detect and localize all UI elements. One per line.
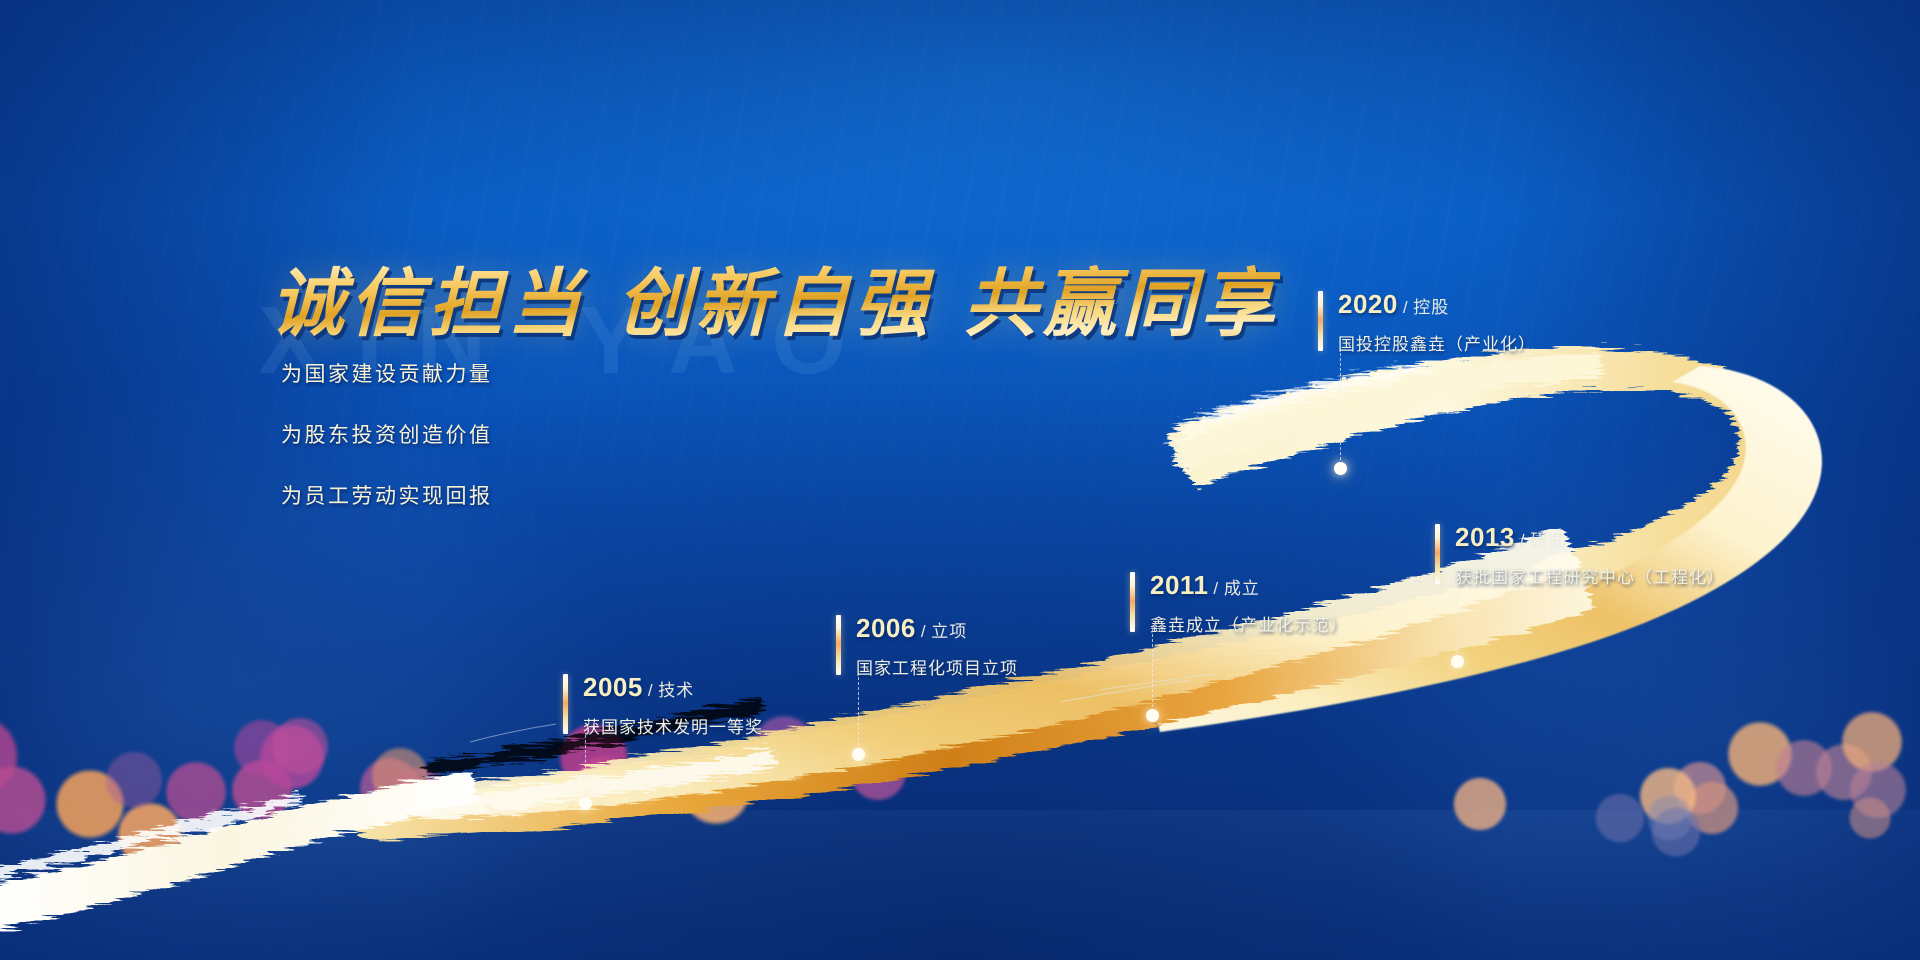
timeline-marker-text: 2005/ 技术获国家技术发明一等奖 bbox=[583, 672, 763, 738]
timeline-description: 鑫垚成立（产业化示范） bbox=[1150, 611, 1348, 636]
page-title: 诚信担当 创新自强 共赢同享 bbox=[270, 244, 1280, 351]
timeline-node-dot[interactable] bbox=[1146, 709, 1159, 722]
timeline-marker-heading: 2020/ 控股 bbox=[1338, 289, 1536, 320]
timeline-accent-bar bbox=[1318, 291, 1323, 351]
timeline-year: 2006 bbox=[856, 613, 916, 643]
bokeh-circle bbox=[1646, 794, 1694, 842]
timeline-leader-line bbox=[1152, 634, 1153, 707]
timeline-description: 获国家技术发明一等奖 bbox=[583, 713, 763, 738]
bokeh-circle bbox=[370, 746, 430, 806]
slogan-line: 为国家建设贡献力量 bbox=[281, 358, 493, 388]
timeline-marker-heading: 2013/ 研究 bbox=[1455, 522, 1725, 553]
timeline-leader-line bbox=[585, 735, 586, 802]
timeline-category: 立项 bbox=[926, 622, 968, 641]
timeline-marker-text: 2006/ 立项国家工程化项目立项 bbox=[856, 613, 1018, 679]
slogan-list: 为国家建设贡献力量 为股东投资创造价值 为员工劳动实现回报 bbox=[281, 358, 493, 541]
timeline-description: 获批国家工程研究中心（工程化） bbox=[1455, 563, 1725, 588]
timeline-marker-text: 2013/ 研究获批国家工程研究中心（工程化） bbox=[1455, 522, 1725, 588]
bokeh-circle bbox=[104, 750, 164, 810]
timeline-marker[interactable]: 2006/ 立项国家工程化项目立项 bbox=[836, 613, 1018, 679]
timeline-category: 技术 bbox=[653, 681, 695, 700]
timeline-description: 国家工程化项目立项 bbox=[856, 654, 1018, 679]
timeline-marker-heading: 2011/ 成立 bbox=[1150, 570, 1348, 601]
bokeh-circle bbox=[1848, 796, 1892, 840]
timeline-year: 2020 bbox=[1338, 289, 1398, 319]
timeline-category: 研究 bbox=[1525, 531, 1567, 550]
timeline-node-dot[interactable] bbox=[852, 748, 865, 761]
timeline-accent-bar bbox=[1130, 572, 1135, 632]
timeline-marker-text: 2011/ 成立鑫垚成立（产业化示范） bbox=[1150, 570, 1348, 636]
timeline-year: 2005 bbox=[583, 672, 643, 702]
timeline-node-dot[interactable] bbox=[1334, 462, 1347, 475]
timeline-accent-bar bbox=[1435, 524, 1440, 584]
bokeh-circle bbox=[1594, 792, 1646, 844]
timeline-category: 成立 bbox=[1218, 579, 1260, 598]
timeline-marker[interactable]: 2005/ 技术获国家技术发明一等奖 bbox=[563, 672, 763, 738]
timeline-year: 2013 bbox=[1455, 522, 1515, 552]
timeline-leader-line bbox=[1457, 586, 1458, 659]
timeline-leader-line bbox=[858, 677, 859, 755]
timeline-marker[interactable]: 2013/ 研究获批国家工程研究中心（工程化） bbox=[1435, 522, 1725, 588]
poster-canvas: XIN YAO 诚信担当 创新自强 共赢同享 为国家建设贡献力量 为股东投资创造… bbox=[0, 0, 1920, 960]
timeline-marker[interactable]: 2020/ 控股国投控股鑫垚（产业化） bbox=[1318, 289, 1536, 355]
slogan-line: 为员工劳动实现回报 bbox=[281, 480, 493, 510]
timeline-marker-text: 2020/ 控股国投控股鑫垚（产业化） bbox=[1338, 289, 1536, 355]
timeline-accent-bar bbox=[563, 674, 568, 734]
bokeh-circle bbox=[1452, 776, 1508, 832]
timeline-description: 国投控股鑫垚（产业化） bbox=[1338, 330, 1536, 355]
timeline-marker-heading: 2006/ 立项 bbox=[856, 613, 1018, 644]
timeline-node-dot[interactable] bbox=[1451, 655, 1464, 668]
slogan-line: 为股东投资创造价值 bbox=[281, 419, 493, 449]
bokeh-circle bbox=[164, 760, 228, 824]
bokeh-circle bbox=[270, 716, 330, 776]
timeline-marker[interactable]: 2011/ 成立鑫垚成立（产业化示范） bbox=[1130, 570, 1348, 636]
bokeh-circle bbox=[680, 754, 752, 826]
timeline-marker-heading: 2005/ 技术 bbox=[583, 672, 763, 703]
timeline-year: 2011 bbox=[1150, 570, 1208, 600]
timeline-accent-bar bbox=[836, 615, 841, 675]
timeline-leader-line bbox=[1340, 353, 1341, 465]
timeline-node-dot[interactable] bbox=[579, 797, 592, 810]
timeline-category: 控股 bbox=[1408, 298, 1450, 317]
